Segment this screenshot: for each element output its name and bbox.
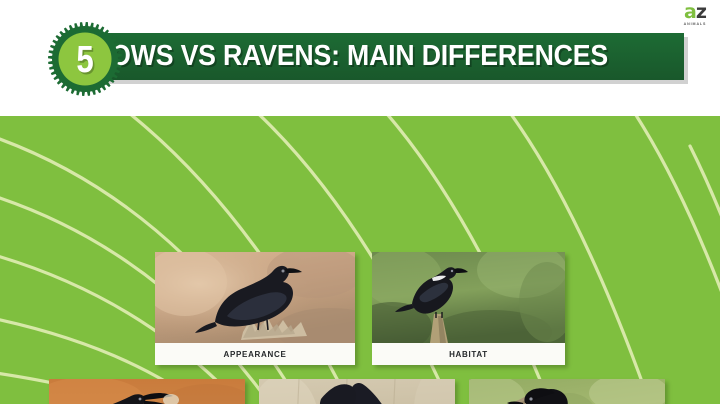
card-call-photo xyxy=(469,379,665,404)
card-species[interactable]: SPECIES xyxy=(259,379,455,404)
card-appearance-label-text: APPEARANCE xyxy=(223,350,286,359)
az-animals-logo[interactable]: az ANIMALS xyxy=(678,3,712,29)
card-appearance-label: APPEARANCE xyxy=(155,343,355,365)
card-appearance-photo xyxy=(155,252,355,343)
card-group-behavior-photo xyxy=(49,379,245,404)
logo-letter-z: z xyxy=(696,1,706,23)
card-appearance[interactable]: APPEARANCE xyxy=(155,252,355,365)
card-group-behavior[interactable]: GROUP BEHAVIOR xyxy=(49,379,245,404)
number-badge: 5 xyxy=(48,22,122,96)
background-arc-pattern xyxy=(0,116,720,404)
logo-subtitle: ANIMALS xyxy=(678,23,712,27)
card-habitat-photo xyxy=(372,252,565,343)
card-habitat-label: HABITAT xyxy=(372,343,565,365)
logo-wordmark: az xyxy=(678,3,712,22)
page-title: CROWS VS RAVENS: MAIN DIFFERENCES xyxy=(72,34,624,79)
card-habitat[interactable]: HABITAT xyxy=(372,252,565,365)
logo-letter-a: a xyxy=(684,1,696,23)
content-panel: APPEARANCE xyxy=(0,116,720,404)
card-call[interactable]: CALL xyxy=(469,379,665,404)
card-habitat-label-text: HABITAT xyxy=(449,350,488,359)
infographic-canvas: az ANIMALS CROWS VS RAVENS: MAIN DIFFERE… xyxy=(0,0,720,404)
card-species-photo xyxy=(259,379,455,404)
badge-number-text: 5 xyxy=(55,22,116,96)
header-bar: az ANIMALS CROWS VS RAVENS: MAIN DIFFERE… xyxy=(0,0,720,116)
